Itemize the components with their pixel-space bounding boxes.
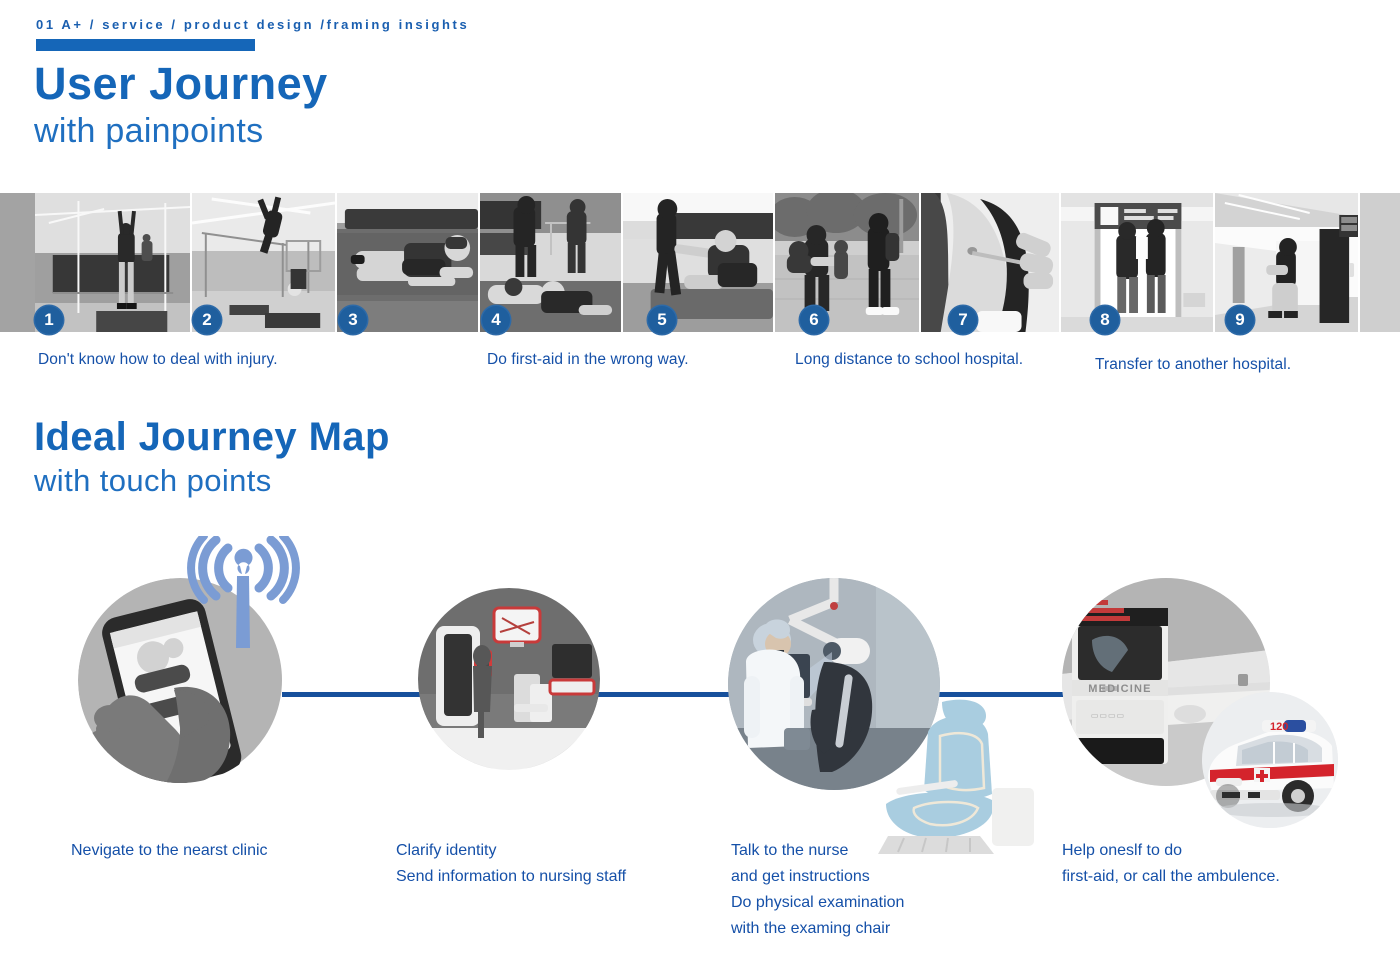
ambulance-number-label: 120 [1270,721,1288,733]
breadcrumb: 01 A+ / service / product design /framin… [36,17,469,32]
painpoint-badge-4: 4 [482,306,510,334]
painpoint-badge-7: 7 [949,306,977,334]
journey-map-title-sub: with touch points [34,462,390,501]
journey-map-title-main: Ideal Journey Map [34,415,390,459]
touchpoint-node-1[interactable] [78,578,283,783]
touchpoint-caption-2-line-1: Clarify identity [396,838,626,864]
painpoint-badge-2: 2 [193,306,221,334]
svg-text:▭▭▭▭: ▭▭▭▭ [1091,711,1125,720]
painpoint-photo-7 [921,193,1061,332]
touchpoint-caption-3-line-4: with the examing chair [731,916,904,942]
painpoint-badge-5: 5 [648,306,676,334]
broadcast-tower-icon [178,536,308,656]
touchpoint-caption-3-line-2: and get instructions [731,864,904,890]
accent-rule [36,39,255,51]
painpoint-caption-1: Don't know how to deal with injury. [38,351,278,369]
page-title-sub: with painpoints [34,111,328,152]
touchpoint-caption-4-line-1: Help oneslf to do [1062,838,1280,864]
journey-map-title: Ideal Journey Map with touch points [34,415,390,501]
strip-left-filler [0,193,35,332]
painpoint-caption-2: Do first-aid in the wrong way. [487,351,689,369]
painpoint-badge-8: 8 [1091,306,1119,334]
painpoint-photo-8 [1061,193,1215,332]
painpoint-badge-1: 1 [35,306,63,334]
touchpoint-node-3[interactable] [728,578,940,790]
touchpoint-caption-3: Talk to the nurse and get instructions D… [731,838,904,942]
touchpoint-caption-2-line-2: Send information to nursing staff [396,864,626,890]
examining-chair-overflow [870,696,1040,856]
touchpoint-node-4[interactable]: MEDICINE ▭▭▭▭ [1062,578,1270,786]
touchpoint-caption-4-line-2: first-aid, or call the ambulence. [1062,864,1280,890]
painpoint-badge-3: 3 [339,306,367,334]
painpoint-caption-4: Transfer to another hospital. [1095,356,1291,374]
painpoint-photo-6 [775,193,921,332]
connector-1-2 [282,692,432,697]
slide-canvas: 01 A+ / service / product design /framin… [0,0,1400,980]
touchpoint-caption-1-line-1: Nevigate to the nearst clinic [71,838,268,864]
painpoint-caption-3: Long distance to school hospital. [795,351,1023,369]
painpoint-photo-5 [623,193,775,332]
medicine-cabinet-label: MEDICINE [1088,683,1151,695]
ambulance-image: 120 [1202,692,1338,828]
touchpoint-image-2 [418,588,600,770]
page-title: User Journey with painpoints [34,60,328,151]
strip-right-filler [1360,193,1400,332]
touchpoint-caption-3-line-3: Do physical examination [731,890,904,916]
painpoint-badge-9: 9 [1226,306,1254,334]
touchpoint-caption-1: Nevigate to the nearst clinic [71,838,268,864]
touchpoint-caption-4: Help oneslf to do first-aid, or call the… [1062,838,1280,890]
painpoint-badge-6: 6 [800,306,828,334]
page-title-main: User Journey [34,60,328,109]
touchpoint-caption-3-line-1: Talk to the nurse [731,838,904,864]
touchpoint-node-2[interactable] [418,588,600,770]
touchpoint-caption-2: Clarify identity Send information to nur… [396,838,626,890]
